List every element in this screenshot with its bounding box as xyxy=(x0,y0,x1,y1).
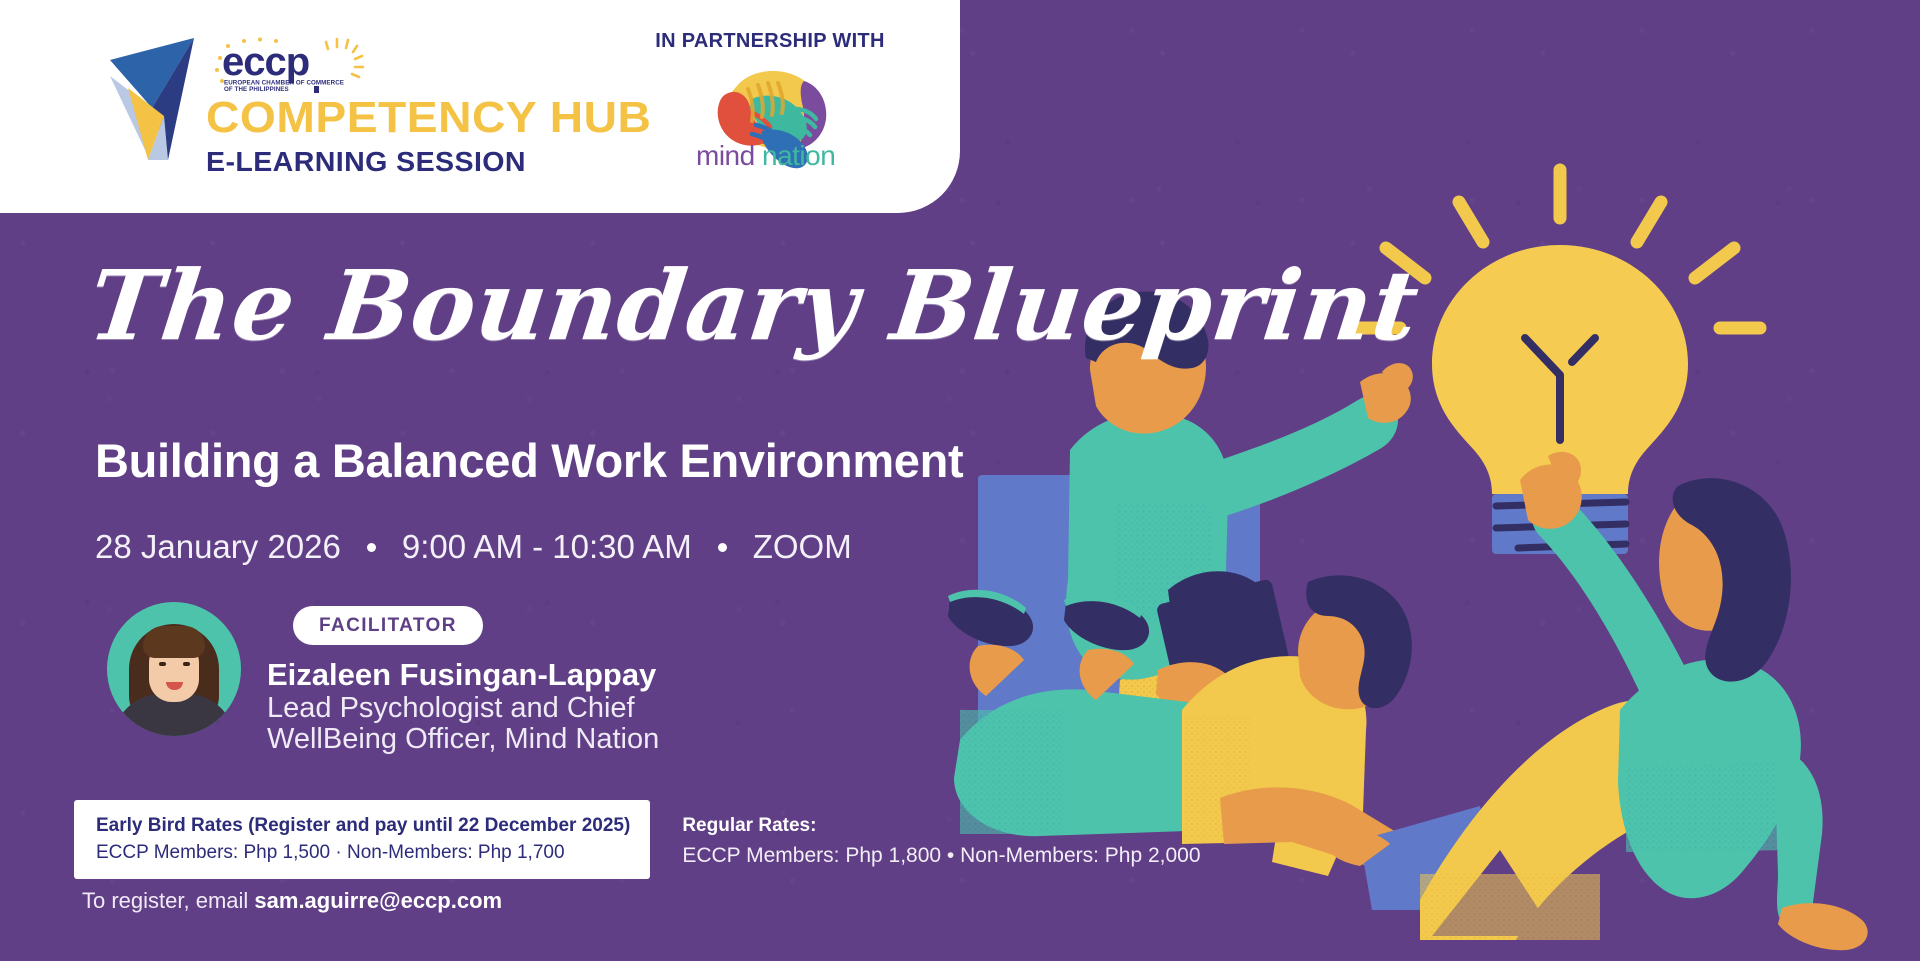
event-title: The Boundary Blueprint xyxy=(84,258,1424,354)
event-time: 9:00 AM - 10:30 AM xyxy=(402,528,692,566)
svg-text:eccp: eccp xyxy=(222,40,309,84)
svg-text:mind: mind xyxy=(696,140,755,171)
mindnation-logo-icon: mind nation xyxy=(690,59,850,171)
eccp-wordmark-icon: eccp EUROPEAN CHAMBER OF COMMERCE OF THE… xyxy=(206,36,396,94)
regular-rates-details: ECCP Members: Php 1,800 • Non-Members: P… xyxy=(682,842,1200,869)
registration-line: To register, email sam.aguirre@eccp.com xyxy=(82,888,502,914)
partnership-label: IN PARTNERSHIP WITH xyxy=(640,30,900,53)
program-title: COMPETENCY HUB xyxy=(206,96,542,140)
facilitator-badge: FACILITATOR xyxy=(293,606,483,645)
eccp-arrow-icon xyxy=(108,32,216,164)
person-seated-reaching xyxy=(1420,452,1868,950)
early-bird-title: Early Bird Rates (Register and pay until… xyxy=(96,814,630,838)
session-type-label: E-LEARNING SESSION xyxy=(206,148,532,176)
regular-rates-title: Regular Rates: xyxy=(682,814,1200,839)
event-platform: ZOOM xyxy=(753,528,852,566)
event-promo-banner: eccp EUROPEAN CHAMBER OF COMMERCE OF THE… xyxy=(0,0,1920,961)
rates-row: Early Bird Rates (Register and pay until… xyxy=(74,800,1201,879)
event-meta: 28 January 2026 9:00 AM - 10:30 AM ZOOM xyxy=(95,528,852,566)
facilitator-role-line-2: WellBeing Officer, Mind Nation xyxy=(267,724,659,755)
header-panel: eccp EUROPEAN CHAMBER OF COMMERCE OF THE… xyxy=(0,0,960,213)
event-subtitle: Building a Balanced Work Environment xyxy=(95,437,963,484)
separator-dot-icon xyxy=(367,543,376,552)
registration-prefix: To register, email xyxy=(82,888,254,913)
eccp-brand-lockup: eccp EUROPEAN CHAMBER OF COMMERCE OF THE… xyxy=(108,24,528,184)
registration-email[interactable]: sam.aguirre@eccp.com xyxy=(254,888,502,913)
facilitator-avatar xyxy=(107,602,241,736)
facilitator-block: FACILITATOR Eizaleen Fusingan-Lappay Lea… xyxy=(107,602,659,755)
facilitator-name: Eizaleen Fusingan-Lappay xyxy=(267,659,659,692)
early-bird-rates-card: Early Bird Rates (Register and pay until… xyxy=(74,800,650,879)
separator-dot-icon xyxy=(718,543,727,552)
facilitator-role-line-1: Lead Psychologist and Chief xyxy=(267,693,659,724)
eccp-text-lockup: eccp EUROPEAN CHAMBER OF COMMERCE OF THE… xyxy=(206,36,526,176)
partner-block: IN PARTNERSHIP WITH xyxy=(640,30,900,171)
svg-text:nation: nation xyxy=(762,140,835,171)
early-bird-details: ECCP Members: Php 1,500 · Non-Members: P… xyxy=(96,841,630,865)
regular-rates-card: Regular Rates: ECCP Members: Php 1,800 •… xyxy=(668,800,1200,869)
event-date: 28 January 2026 xyxy=(95,528,341,566)
svg-text:OF THE PHILIPPINES: OF THE PHILIPPINES xyxy=(224,86,289,93)
